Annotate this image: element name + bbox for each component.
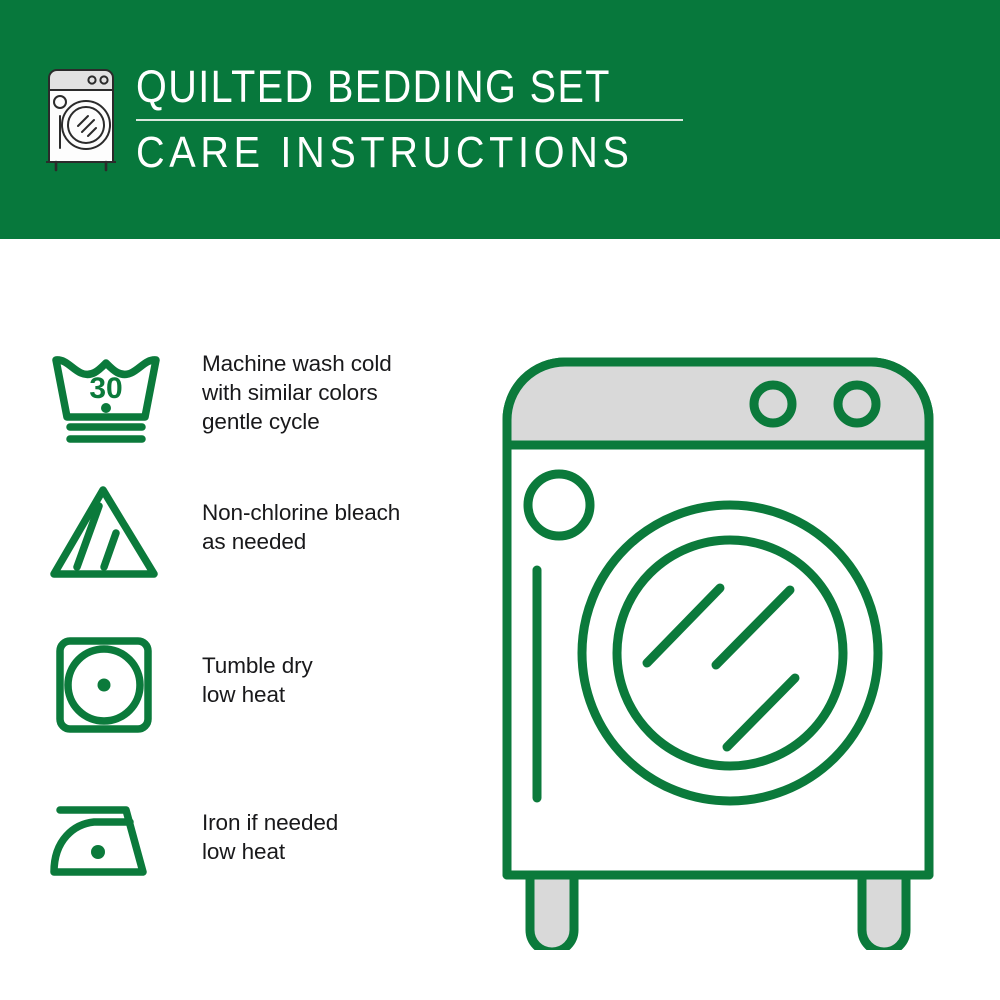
care-text: Tumble dry low heat [202, 635, 313, 709]
washing-machine-illustration [480, 320, 980, 950]
wash-tub-30-gentle-icon: 30 [48, 347, 164, 447]
title-divider [136, 119, 683, 121]
care-row: 30 Machine wash cold with similar colors… [48, 347, 392, 447]
care-instructions-infographic: QUILTED BEDDING SET CARE INSTRUCTIONS 30 [0, 0, 1000, 1000]
leg-left [530, 875, 574, 950]
care-row: Tumble dry low heat [48, 635, 313, 735]
leg-right [862, 875, 906, 950]
care-text: Machine wash cold with similar colors ge… [202, 347, 392, 436]
iron-low-heat-icon [48, 794, 164, 894]
header-content: QUILTED BEDDING SET CARE INSTRUCTIONS [44, 62, 689, 178]
wash-temperature-label: 30 [89, 372, 122, 405]
care-instruction-list: 30 Machine wash cold with similar colors… [0, 239, 480, 1000]
care-row: Non-chlorine bleach as needed [48, 482, 400, 582]
header-band: QUILTED BEDDING SET CARE INSTRUCTIONS [0, 0, 1000, 239]
care-text: Non-chlorine bleach as needed [202, 482, 400, 556]
page-title: QUILTED BEDDING SET [136, 62, 623, 112]
header-title-group: QUILTED BEDDING SET CARE INSTRUCTIONS [136, 62, 689, 178]
page-subtitle: CARE INSTRUCTIONS [136, 128, 634, 178]
tumble-dry-low-heat-icon [48, 635, 164, 735]
washing-machine-icon [44, 66, 118, 174]
care-text: Iron if needed low heat [202, 794, 338, 866]
care-row: Iron if needed low heat [48, 794, 338, 894]
non-chlorine-bleach-triangle-icon [48, 482, 164, 582]
